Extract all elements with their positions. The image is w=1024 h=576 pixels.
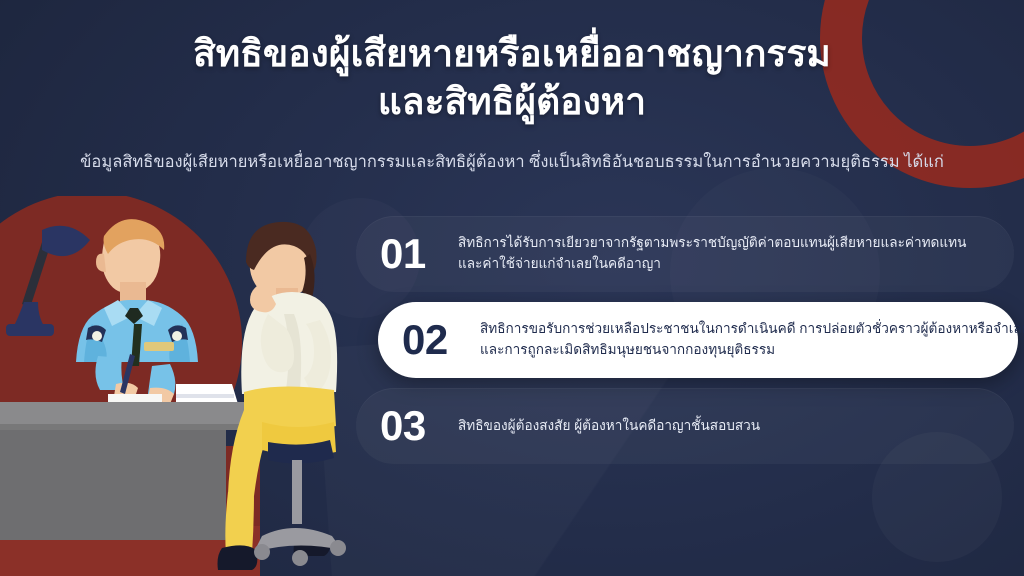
title-line-1: สิทธิของผู้เสียหายหรือเหยื่ออาชญากรรม <box>60 30 964 78</box>
desk <box>0 402 246 540</box>
title-line-2: และสิทธิผู้ต้องหา <box>60 78 964 126</box>
item-text-line-1: สิทธิการขอรับการช่วยเหลือประชาชนในการดำเ… <box>480 319 1024 340</box>
item-text: สิทธิของผู้ต้องสงสัย ผู้ต้องหาในคดีอาญาช… <box>458 416 988 437</box>
items-list: 01 สิทธิการได้รับการเยียวยาจากรัฐตามพระร… <box>352 216 1024 474</box>
item-text-line-1: สิทธิการได้รับการเยียวยาจากรัฐตามพระราชบ… <box>458 233 988 254</box>
item-number: 03 <box>380 405 458 447</box>
page-subtitle: ข้อมูลสิทธิของผู้เสียหายหรือเหยื่ออาชญาก… <box>0 150 1024 175</box>
victim-figure <box>218 222 347 570</box>
police-interview-illustration <box>0 196 352 576</box>
item-text-line-2: และการถูกละเมิดสิทธิมนุษยชนจากกองทุนยุติ… <box>480 340 1024 361</box>
item-text-line-2: และค่าใช้จ่ายแก่จำเลยในคดีอาญา <box>458 254 988 275</box>
item-text: สิทธิการได้รับการเยียวยาจากรัฐตามพระราชบ… <box>458 233 988 274</box>
list-item-01[interactable]: 01 สิทธิการได้รับการเยียวยาจากรัฐตามพระร… <box>356 216 1014 292</box>
item-text: สิทธิการขอรับการช่วยเหลือประชาชนในการดำเ… <box>480 319 1024 360</box>
list-item-03[interactable]: 03 สิทธิของผู้ต้องสงสัย ผู้ต้องหาในคดีอา… <box>356 388 1014 464</box>
item-text-line-1: สิทธิของผู้ต้องสงสัย ผู้ต้องหาในคดีอาญาช… <box>458 416 988 437</box>
slide-root: สิทธิของผู้เสียหายหรือเหยื่ออาชญากรรม แล… <box>0 0 1024 576</box>
list-item-02[interactable]: 02 สิทธิการขอรับการช่วยเหลือประชาชนในการ… <box>378 302 1018 378</box>
item-number: 01 <box>380 233 458 275</box>
item-number: 02 <box>402 319 480 361</box>
page-title: สิทธิของผู้เสียหายหรือเหยื่ออาชญากรรม แล… <box>0 30 1024 126</box>
